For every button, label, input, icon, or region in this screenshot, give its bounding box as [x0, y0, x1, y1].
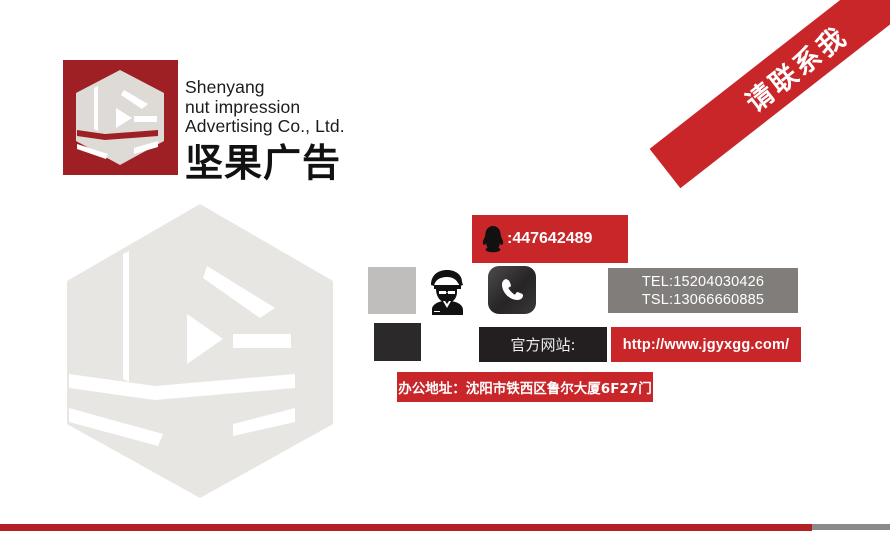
person-avatar-icon: [422, 265, 472, 315]
hexagon-logo-icon: [63, 60, 178, 175]
website-label: 官方网站:: [479, 327, 607, 362]
office-address: 办公地址：沈阳市铁西区鲁尔大厦6F27门: [397, 372, 653, 402]
contact-me-ribbon: 请联系我: [650, 0, 890, 188]
website-url-link[interactable]: http://www.jgyxgg.com/: [611, 327, 801, 362]
phone-icon-button[interactable]: [488, 266, 536, 314]
business-card-page: Shenyang nut impression Advertising Co.,…: [0, 0, 890, 538]
qq-penguin-icon: [482, 225, 504, 253]
bottom-red-bar: [0, 524, 812, 531]
tel-line-2: TSL:13066660885: [642, 291, 764, 309]
qq-number: :447642489: [507, 230, 592, 248]
gray-accent-square: [368, 267, 416, 314]
dark-accent-square: [374, 323, 421, 361]
contact-info-area: :447642489 TEL:15204030426 TSL:130666608…: [368, 215, 808, 405]
ribbon-label: 请联系我: [736, 15, 855, 120]
brand-text-block: Shenyang nut impression Advertising Co.,…: [185, 78, 445, 184]
company-english-line2: nut impression: [185, 98, 445, 118]
phone-handset-icon: [498, 276, 526, 304]
company-chinese-name: 坚果广告: [185, 142, 445, 184]
company-logo: [63, 60, 178, 175]
tel-line-1: TEL:15204030426: [642, 273, 764, 291]
company-english-line1: Shenyang: [185, 78, 445, 98]
company-english-line3: Advertising Co., Ltd.: [185, 117, 445, 137]
telephone-numbers-panel: TEL:15204030426 TSL:13066660885: [608, 268, 798, 313]
hexagon-watermark-icon: [55, 196, 345, 506]
qq-contact-badge[interactable]: :447642489: [472, 215, 628, 263]
bottom-gray-bar: [812, 524, 890, 530]
